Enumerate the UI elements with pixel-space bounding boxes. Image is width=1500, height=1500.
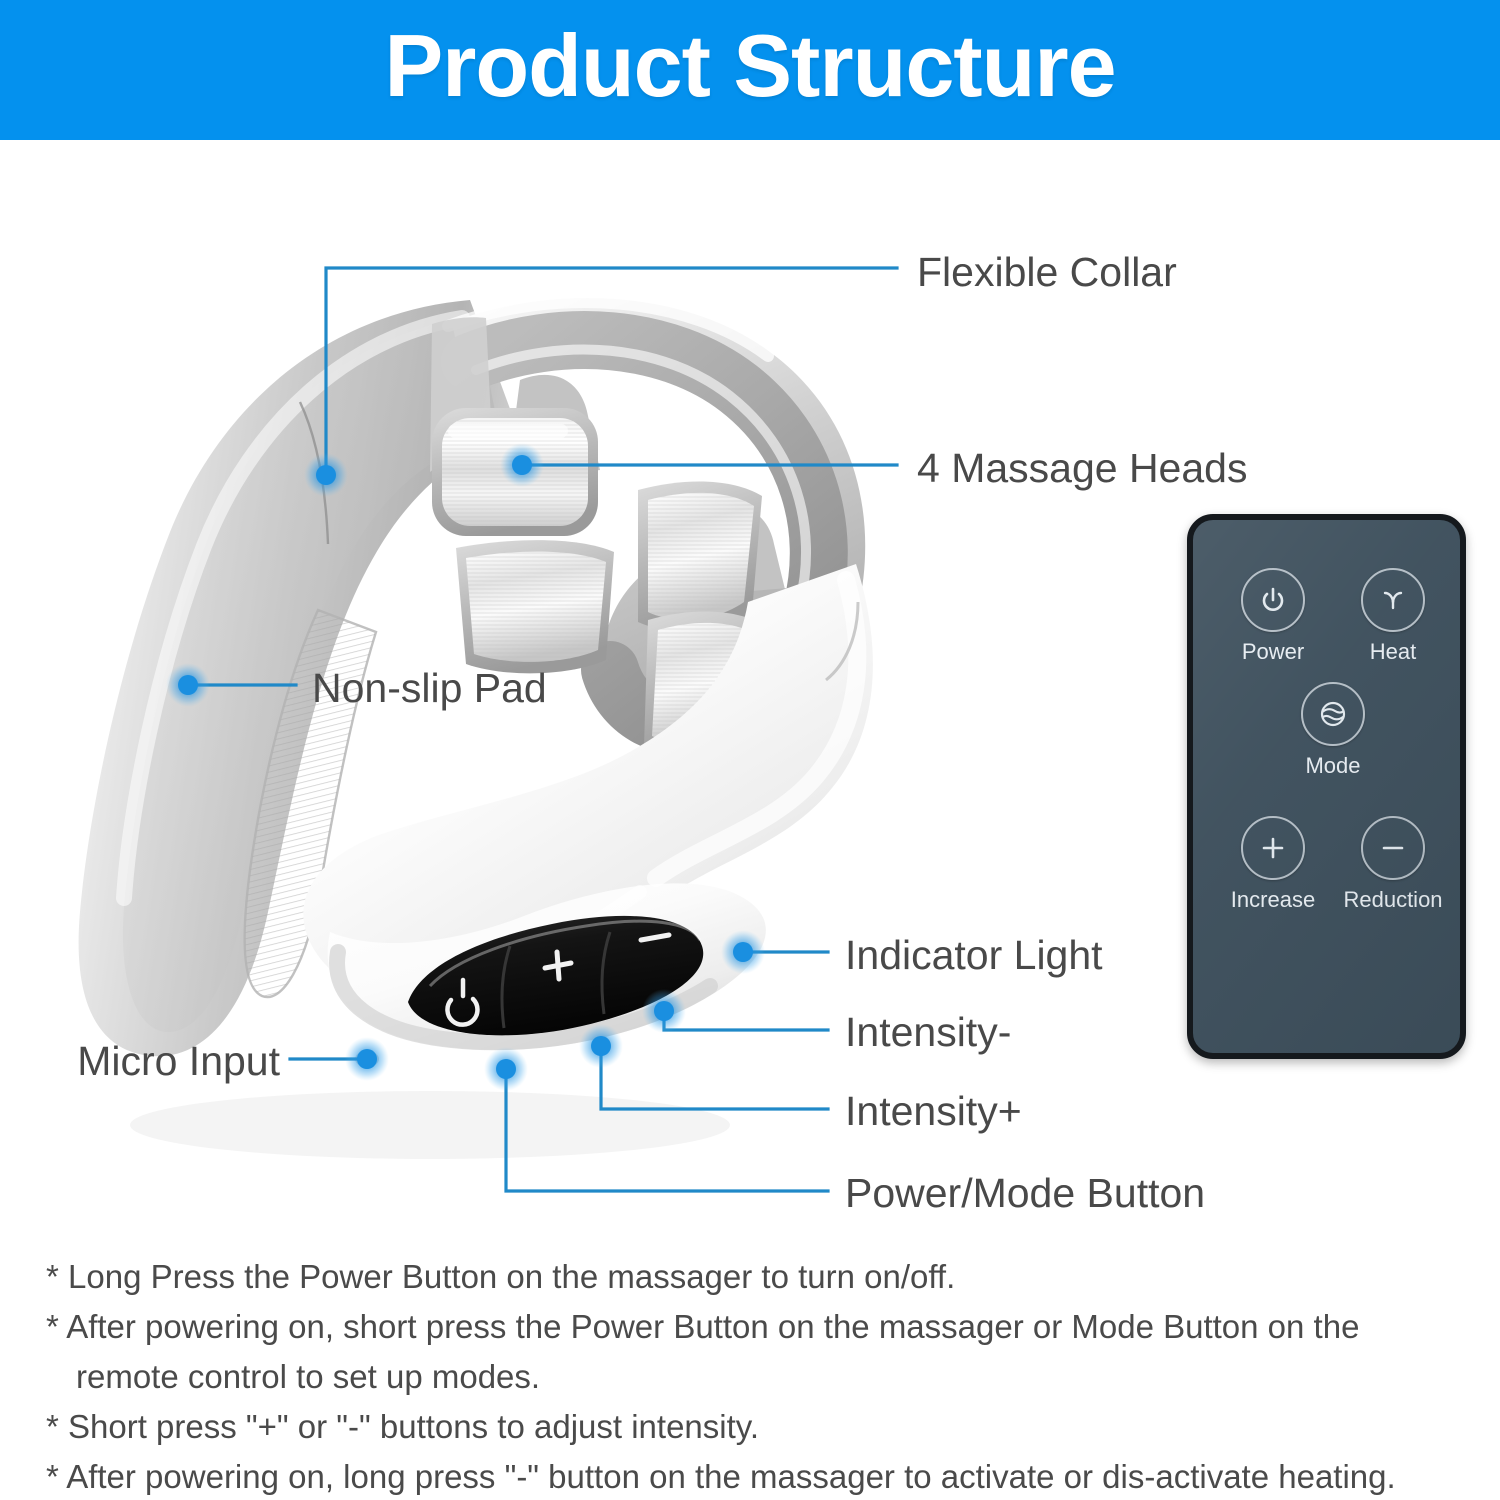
callout-label-indicator-light: Indicator Light: [845, 935, 1103, 976]
instruction-line: * Short press "+" or "-" buttons to adju…: [46, 1402, 1466, 1452]
callout-label-power-mode-button: Power/Mode Button: [845, 1173, 1205, 1214]
instruction-line: * After powering on, long press "-" butt…: [46, 1452, 1466, 1500]
instruction-line: remote control to set up modes.: [46, 1352, 1466, 1402]
micro-input-port: [355, 1051, 379, 1067]
massage-head-2: [456, 540, 614, 673]
instructions-list: * Long Press the Power Button on the mas…: [46, 1252, 1466, 1500]
remote-reduction-button[interactable]: Reduction: [1345, 816, 1441, 911]
product-structure-infographic: Product Structure: [0, 0, 1500, 1500]
page-title: Product Structure: [384, 22, 1115, 110]
plus-icon: [1241, 816, 1305, 880]
callout-label-flexible-collar: Flexible Collar: [917, 252, 1177, 293]
remote-mode-label: Mode: [1305, 755, 1360, 777]
remote-increase-label: Increase: [1231, 889, 1315, 911]
massage-head-3: [638, 481, 762, 630]
power-icon: [1241, 568, 1305, 632]
remote-heat-label: Heat: [1370, 641, 1416, 663]
remote-heat-button[interactable]: Heat: [1345, 568, 1441, 663]
callout-label-intensity-plus: Intensity+: [845, 1091, 1022, 1132]
remote-mode-button[interactable]: Mode: [1285, 682, 1381, 777]
indicator-light-recess: [733, 945, 753, 959]
mode-icon: [1301, 682, 1365, 746]
instruction-line: * Long Press the Power Button on the mas…: [46, 1252, 1466, 1302]
header-banner: Product Structure: [0, 0, 1500, 140]
callout-label-micro-input: Micro Input: [70, 1041, 280, 1082]
remote-power-button[interactable]: Power: [1225, 568, 1321, 663]
callout-label-massage-heads: 4 Massage Heads: [917, 448, 1247, 489]
callout-label-intensity-minus: Intensity-: [845, 1012, 1011, 1053]
remote-increase-button[interactable]: Increase: [1225, 816, 1321, 911]
instruction-line: * After powering on, short press the Pow…: [46, 1302, 1466, 1352]
heat-icon: [1361, 568, 1425, 632]
remote-power-label: Power: [1242, 641, 1304, 663]
minus-icon: [1361, 816, 1425, 880]
massage-head-1: [432, 408, 598, 536]
remote-control[interactable]: Power Heat Mode: [1187, 514, 1466, 1059]
remote-reduction-label: Reduction: [1343, 889, 1442, 911]
callout-label-non-slip-pad: Non-slip Pad: [312, 668, 547, 709]
